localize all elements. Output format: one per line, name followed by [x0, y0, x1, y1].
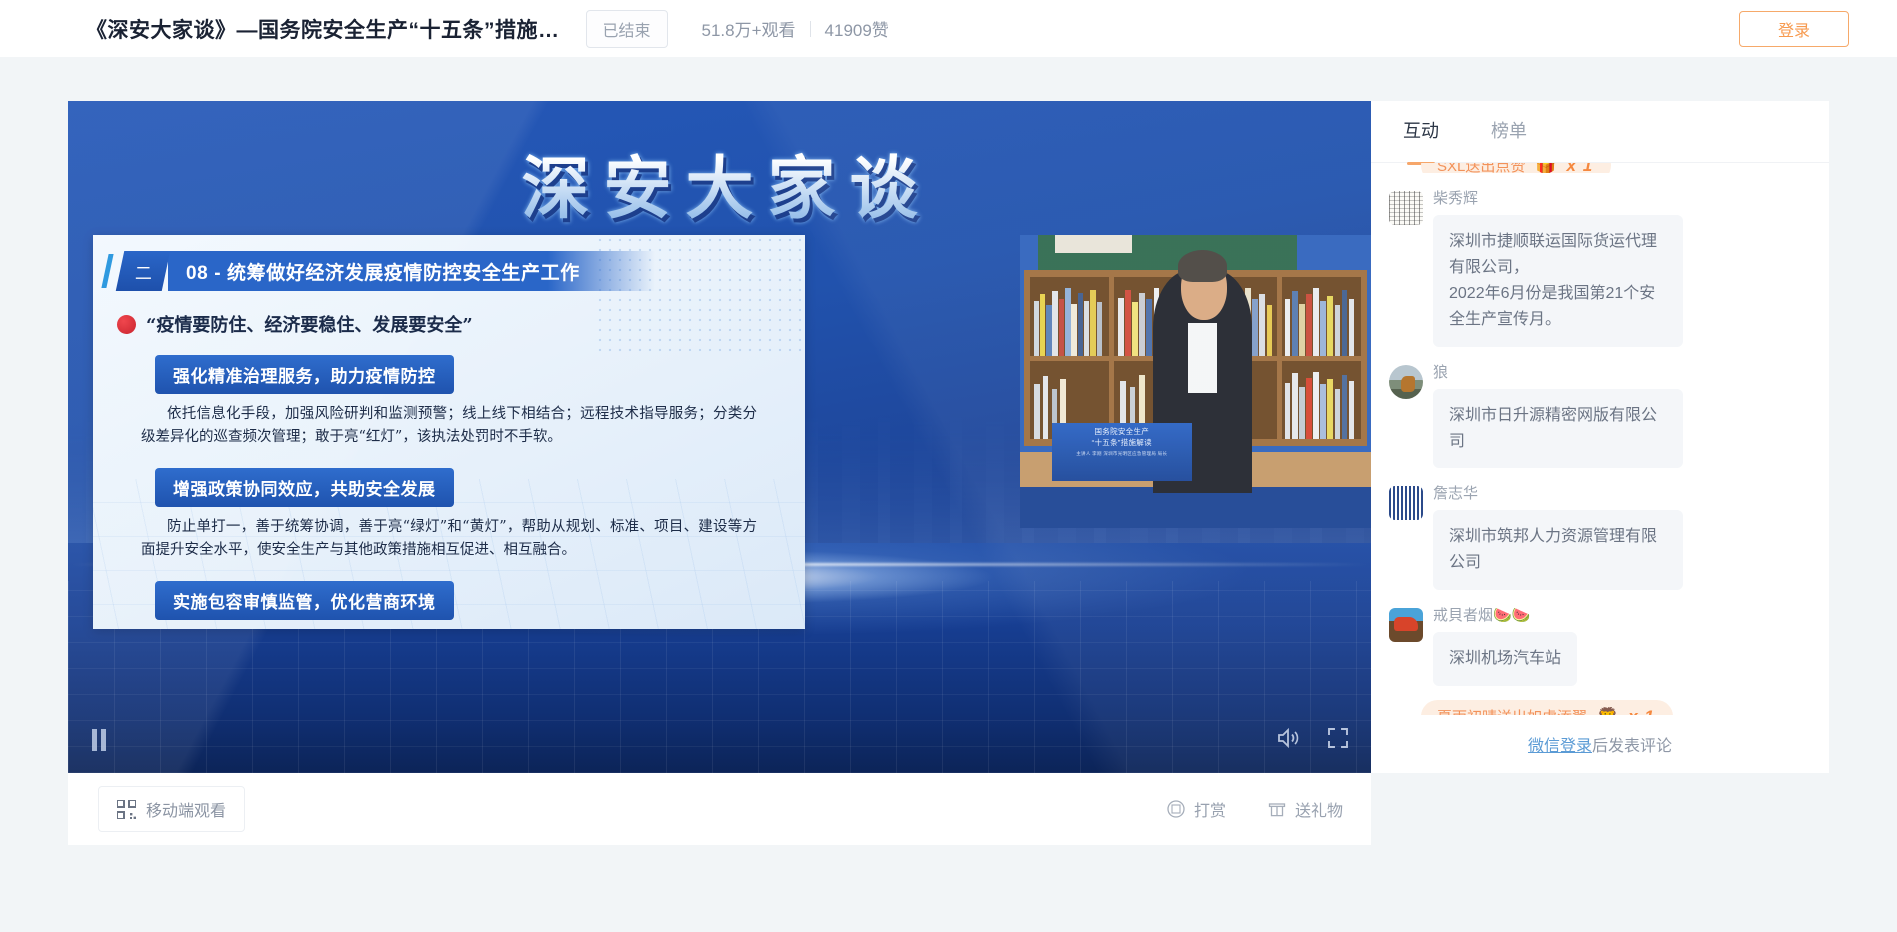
bullet-dot-icon — [117, 315, 136, 334]
speaker-board-paper — [1055, 235, 1132, 253]
speaker-shirt — [1188, 323, 1216, 393]
message-bubble: 深圳市筑邦人力资源管理有限公司 — [1433, 510, 1683, 590]
tab-leaderboard[interactable]: 榜单 — [1491, 117, 1527, 147]
message-body: 戒貝者烟🍉🍉 深圳机场汽车站 — [1433, 604, 1795, 686]
stream-stats: 51.8万+观看 41909赞 — [702, 16, 889, 41]
bookshelf-cell — [1282, 361, 1361, 439]
page-header: 《深安大家谈》—国务院安全生产“十五条”措施… 已结束 51.8万+观看 419… — [0, 0, 1897, 57]
stats-divider — [810, 21, 811, 37]
message-bubble: 深圳机场汽车站 — [1433, 632, 1577, 686]
send-gift-button[interactable]: 送礼物 — [1268, 797, 1343, 821]
slide-para-1: 依托信息化手段，加强风险研判和监测预警；线上线下相结合；远程技术指导服务；分类分… — [141, 403, 757, 450]
list-item: 柴秀辉 深圳市捷顺联运国际货运代理有限公司， 2022年6月份是我国第21个安全… — [1389, 187, 1795, 347]
gift-text: SXL送出点赞 — [1437, 163, 1525, 173]
gift-banner-clipped: SXL送出点赞 🎁 x 1 — [1389, 163, 1795, 173]
view-count: 51.8万+观看 — [702, 16, 796, 41]
nameplate-subtitle: 主讲人 李刚 深圳市光明区应急管理局 局长 — [1052, 451, 1192, 458]
speaker-desk-front — [1020, 487, 1371, 528]
send-gift-label: 送礼物 — [1295, 797, 1343, 821]
tip-label: 打赏 — [1194, 797, 1226, 821]
list-item: 詹志华 深圳市筑邦人力资源管理有限公司 — [1389, 482, 1795, 590]
nameplate-line-2: “十五条”措施解读 — [1052, 437, 1192, 448]
gift-box-icon — [1268, 800, 1286, 818]
list-item: 狼 深圳市日升源精密网版有限公司 — [1389, 361, 1795, 469]
action-bar-right: 打赏 送礼物 — [1167, 797, 1343, 821]
gift-count: x 1 — [1567, 163, 1594, 173]
avatar[interactable] — [1389, 486, 1423, 520]
avatar[interactable] — [1389, 365, 1423, 399]
mobile-watch-label: 移动端观看 — [146, 797, 226, 821]
slide-header: 二 08 - 统筹做好经济发展疫情防控安全生产工作 — [105, 251, 805, 291]
video-player[interactable]: 深安大家谈 二 08 - 统筹做好经济发展疫情防控安全生产工作 “疫情要防住、经… — [68, 101, 1371, 773]
chat-sidebar: 互动 榜单 SXL送出点赞 🎁 x 1 柴秀辉 深圳市捷顺联运国际货运代理有限公… — [1371, 101, 1829, 773]
page-body: 深安大家谈 二 08 - 统筹做好经济发展疫情防控安全生产工作 “疫情要防住、经… — [0, 57, 1897, 932]
login-button[interactable]: 登录 — [1739, 11, 1849, 47]
slide-pill-3: 实施包容审慎监管，优化营商环境 — [155, 581, 454, 620]
gift-banner: 夏雨初晴送出如虎添翼 🦁 x 1 — [1421, 700, 1673, 715]
slide-section-number: 二 — [116, 251, 171, 291]
slide-quote: “疫情要防住、经济要稳住、发展要安全” — [117, 311, 805, 337]
message-body: 詹志华 深圳市筑邦人力资源管理有限公司 — [1433, 482, 1795, 590]
tip-button[interactable]: 打赏 — [1167, 797, 1226, 821]
slide-tick-decoration — [101, 254, 113, 288]
player-controls — [68, 715, 1371, 773]
pause-icon[interactable] — [90, 729, 108, 751]
nameplate-line-1: 国务院安全生产 — [1052, 426, 1192, 437]
reward-coin-icon — [1167, 800, 1185, 818]
show-title: 深安大家谈 — [68, 133, 1371, 232]
gift-text: 夏雨初晴送出如虎添翼 — [1437, 706, 1587, 715]
slide-pill-1: 强化精准治理服务，助力疫情防控 — [155, 355, 454, 394]
speaker-hair — [1178, 250, 1227, 282]
tab-interaction[interactable]: 互动 — [1403, 117, 1439, 147]
bookshelf-cell — [1282, 277, 1361, 355]
content-wrapper: 深安大家谈 二 08 - 统筹做好经济发展疫情防控安全生产工作 “疫情要防住、经… — [68, 101, 1829, 773]
slide-quote-text: “疫情要防住、经济要稳住、发展要安全” — [146, 311, 473, 337]
message-author: 戒貝者烟🍉🍉 — [1433, 604, 1795, 625]
comment-login-prompt: 微信登录 后发表评论 — [1371, 715, 1829, 773]
message-bubble: 深圳市日升源精密网版有限公司 — [1433, 389, 1683, 469]
presentation-slide: 二 08 - 统筹做好经济发展疫情防控安全生产工作 “疫情要防住、经济要稳住、发… — [93, 235, 805, 629]
message-body: 狼 深圳市日升源精密网版有限公司 — [1433, 361, 1795, 469]
mobile-watch-button[interactable]: 移动端观看 — [98, 786, 245, 832]
qr-code-icon — [117, 800, 136, 819]
message-author: 柴秀辉 — [1433, 187, 1795, 208]
slide-section-number-text: 二 — [135, 259, 152, 284]
message-author: 狼 — [1433, 361, 1795, 382]
action-bar: 移动端观看 打赏 送礼物 — [68, 773, 1371, 845]
like-count: 41909赞 — [825, 16, 889, 41]
list-item: 戒貝者烟🍉🍉 深圳机场汽车站 — [1389, 604, 1795, 686]
gift-banner: SXL送出点赞 🎁 x 1 — [1421, 163, 1611, 173]
player-controls-right — [1277, 727, 1349, 749]
slide-para-2: 防止单打一，善于统筹协调，善于亮“绿灯”和“黄灯”，帮助从规划、标准、项目、建设… — [141, 516, 757, 563]
gift-count: x 1 — [1628, 707, 1655, 715]
page-title: 《深安大家谈》—国务院安全生产“十五条”措施… — [86, 14, 560, 44]
bookshelf-cell — [1030, 277, 1109, 355]
gift-icon: 🎁 — [1535, 163, 1556, 173]
speaker-nameplate: 国务院安全生产 “十五条”措施解读 主讲人 李刚 深圳市光明区应急管理局 局长 — [1052, 423, 1192, 482]
wechat-login-link[interactable]: 微信登录 — [1528, 732, 1592, 756]
speaker-video-inset: 国务院安全生产 “十五条”措施解读 主讲人 李刚 深圳市光明区应急管理局 局长 … — [1020, 235, 1371, 528]
message-bubble: 深圳市捷顺联运国际货运代理有限公司， 2022年6月份是我国第21个安全生产宣传… — [1433, 215, 1683, 347]
gift-icon: 🦁 — [1597, 708, 1618, 715]
avatar[interactable] — [1389, 608, 1423, 642]
sidebar-tabs: 互动 榜单 — [1371, 101, 1829, 163]
message-author: 詹志华 — [1433, 482, 1795, 503]
chat-list[interactable]: SXL送出点赞 🎁 x 1 柴秀辉 深圳市捷顺联运国际货运代理有限公司， 202… — [1371, 163, 1829, 715]
status-badge: 已结束 — [586, 10, 668, 48]
comment-prompt-text: 后发表评论 — [1592, 732, 1672, 756]
message-body: 柴秀辉 深圳市捷顺联运国际货运代理有限公司， 2022年6月份是我国第21个安全… — [1433, 187, 1795, 347]
fullscreen-icon[interactable] — [1327, 727, 1349, 749]
gift-banner-group: 夏雨初晴送出如虎添翼 🦁 x 1 yuki送出福虎来财 🐯 x 99 — [1389, 700, 1795, 715]
slide-heading: 08 - 统筹做好经济发展疫情防控安全生产工作 — [168, 251, 655, 291]
slide-pill-2: 增强政策协同效应，共助安全发展 — [155, 468, 454, 507]
avatar[interactable] — [1389, 191, 1423, 225]
volume-icon[interactable] — [1277, 727, 1301, 749]
